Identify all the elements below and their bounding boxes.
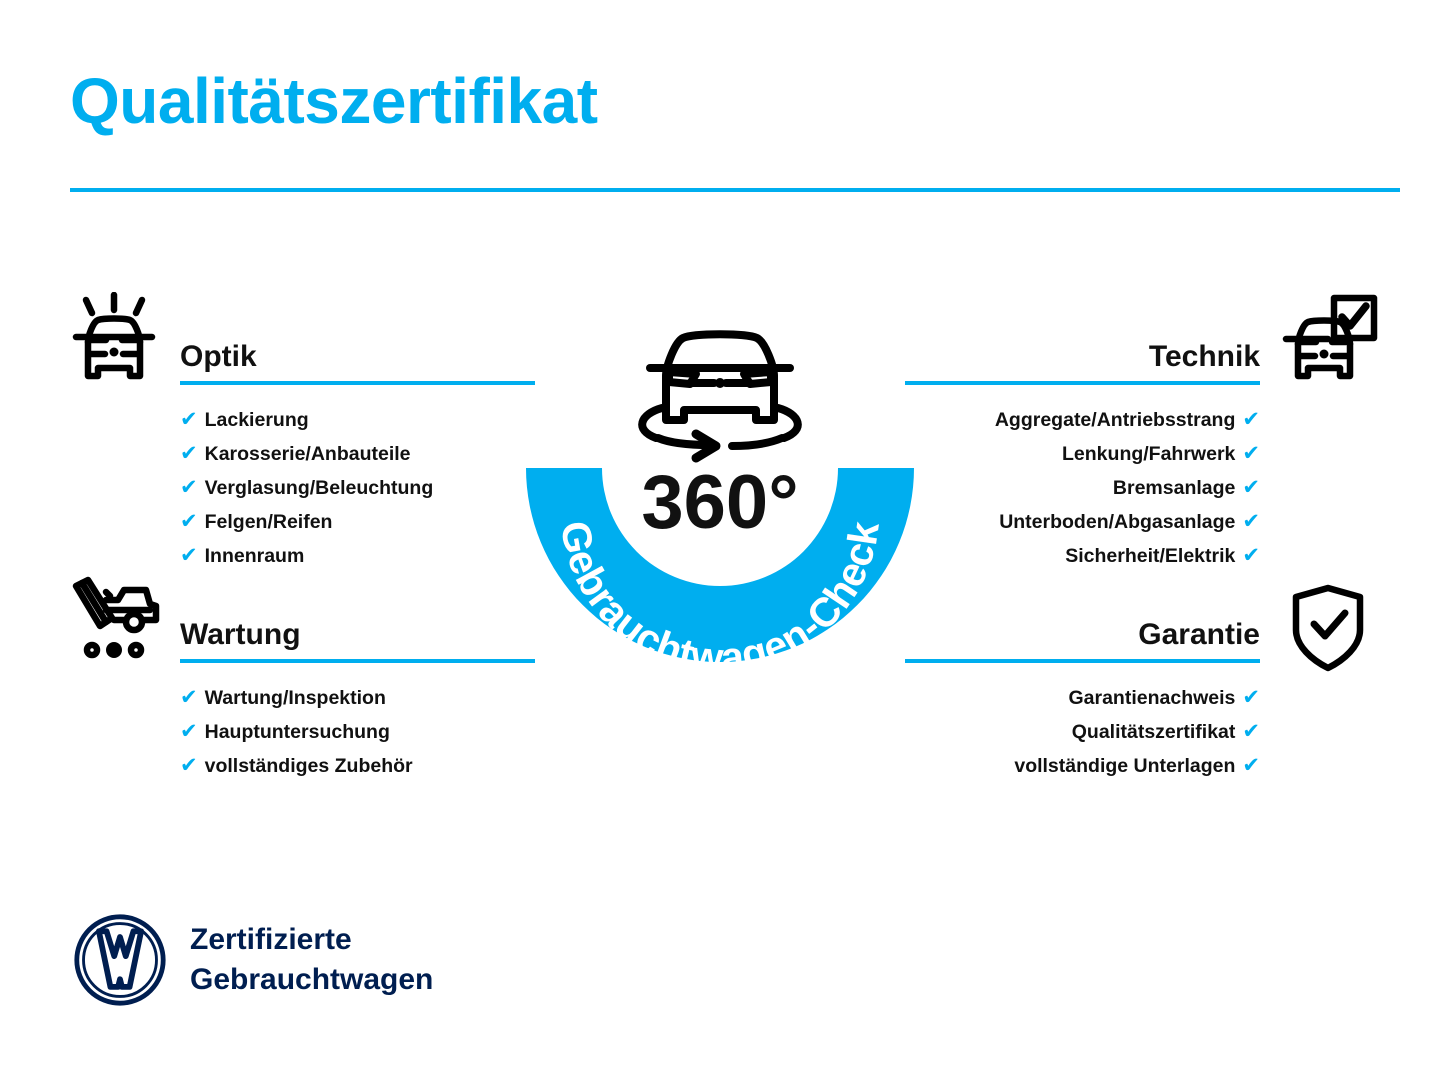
badge-center-value: 360° [641,460,798,545]
check-icon: ✔ [1242,755,1260,776]
checklist-technik: Aggregate/Antriebsstrang✔ Lenkung/Fahrwe… [905,403,1260,573]
list-item-label: Aggregate/Antriebsstrang [995,403,1236,437]
list-item-label: Karosserie/Anbauteile [205,437,411,471]
check-icon: ✔ [1242,545,1260,566]
list-item: vollständige Unterlagen✔ [905,749,1260,783]
check-icon: ✔ [180,755,198,776]
check-icon: ✔ [1242,687,1260,708]
list-item-label: Lackierung [205,403,309,437]
check-icon: ✔ [1242,511,1260,532]
list-item: Bremsanlage✔ [905,471,1260,505]
list-item: Sicherheit/Elektrik✔ [905,539,1260,573]
section-heading-garantie: Garantie [905,620,1260,650]
section-divider-optik [180,381,535,385]
list-item-label: Qualitätszertifikat [1072,715,1236,749]
list-item-label: vollständige Unterlagen [1014,749,1235,783]
footer-line-2: Gebrauchtwagen [190,960,433,1000]
section-heading-wartung: Wartung [180,620,535,650]
list-item: ✔Hauptuntersuchung [180,715,535,749]
section-divider-technik [905,381,1260,385]
check-icon: ✔ [180,477,198,498]
list-item: ✔Innenraum [180,539,535,573]
list-item-label: Wartung/Inspektion [205,681,386,715]
list-item-label: Garantienachweis [1068,681,1235,715]
list-item: ✔Felgen/Reifen [180,505,535,539]
section-divider-garantie [905,659,1260,663]
checklist-optik: ✔Lackierung ✔Karosserie/Anbauteile ✔Verg… [180,403,535,573]
check-icon: ✔ [1242,409,1260,430]
car-shine-icon [62,292,166,388]
check-icon: ✔ [180,443,198,464]
list-item-label: Bremsanlage [1113,471,1235,505]
section-garantie: Garantie Garantienachweis✔ Qualitätszert… [905,620,1260,783]
list-item-label: Hauptuntersuchung [205,715,390,749]
checklist-wartung: ✔Wartung/Inspektion ✔Hauptuntersuchung ✔… [180,681,535,783]
footer-line-1: Zertifizierte [190,920,433,960]
list-item: ✔Karosserie/Anbauteile [180,437,535,471]
section-wartung: Wartung ✔Wartung/Inspektion ✔Hauptunters… [180,620,535,783]
list-item-label: Lenkung/Fahrwerk [1062,437,1235,471]
list-item: Aggregate/Antriebsstrang✔ [905,403,1260,437]
shield-check-icon [1276,580,1380,676]
check-icon: ✔ [1242,443,1260,464]
list-item-label: Unterboden/Abgasanlage [999,505,1235,539]
certificate-page: Qualitätszertifikat [0,0,1440,1080]
check-icon: ✔ [180,687,198,708]
check-icon: ✔ [180,721,198,742]
checklist-garantie: Garantienachweis✔ Qualitätszertifikat✔ v… [905,681,1260,783]
section-technik: Technik Aggregate/Antriebsstrang✔ Lenkun… [905,342,1260,573]
section-optik: Optik ✔Lackierung ✔Karosserie/Anbauteile… [180,342,535,573]
check-icon: ✔ [180,511,198,532]
list-item-label: Felgen/Reifen [205,505,333,539]
list-item-label: Verglasung/Beleuchtung [205,471,434,505]
badge-360-gebrauchtwagen-check: Gebrauchtwagen-Check 360° [510,280,930,700]
list-item: Qualitätszertifikat✔ [905,715,1260,749]
section-heading-technik: Technik [905,342,1260,372]
list-item: ✔Verglasung/Beleuchtung [180,471,535,505]
list-item: ✔vollständiges Zubehör [180,749,535,783]
footer-brand-lockup: Zertifizierte Gebrauchtwagen [72,912,433,1008]
check-icon: ✔ [1242,477,1260,498]
section-divider-wartung [180,659,535,663]
car-checkbox-icon [1276,292,1380,388]
check-icon: ✔ [180,545,198,566]
list-item: Unterboden/Abgasanlage✔ [905,505,1260,539]
check-icon: ✔ [180,409,198,430]
section-heading-optik: Optik [180,342,535,372]
list-item-label: Sicherheit/Elektrik [1065,539,1235,573]
list-item: Garantienachweis✔ [905,681,1260,715]
list-item: Lenkung/Fahrwerk✔ [905,437,1260,471]
title-divider [70,188,1400,192]
list-item: ✔Lackierung [180,403,535,437]
page-title: Qualitätszertifikat [70,68,598,135]
volkswagen-logo [72,912,168,1008]
list-item-label: vollständiges Zubehör [205,749,413,783]
car-front-rotate-icon [642,334,798,458]
list-item: ✔Wartung/Inspektion [180,681,535,715]
check-icon: ✔ [1242,721,1260,742]
footer-brand-text: Zertifizierte Gebrauchtwagen [190,920,433,999]
pencil-car-service-icon [62,572,166,668]
list-item-label: Innenraum [205,539,305,573]
